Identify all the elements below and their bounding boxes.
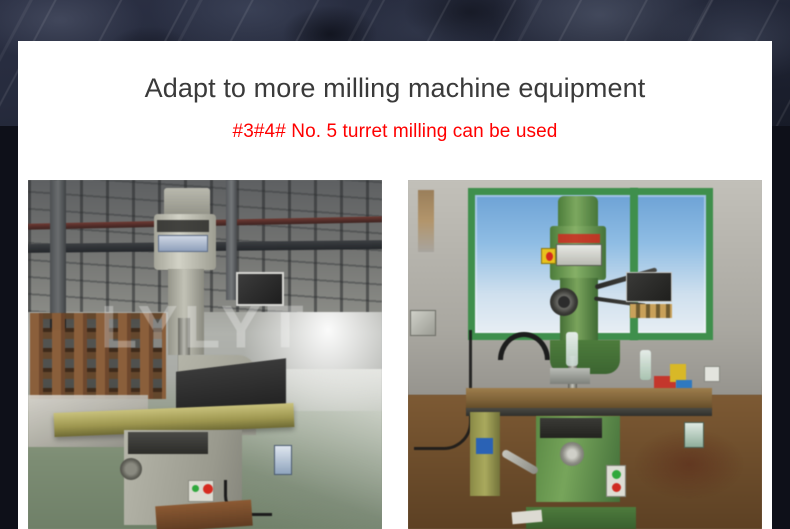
photo-2-water-bottle [566, 332, 578, 366]
photo-2-machine-saddle [540, 418, 602, 438]
photo-2-knee-handwheel [560, 442, 584, 466]
photo-2-machine-table [466, 388, 712, 410]
photo-1-machine-label [158, 235, 208, 252]
photo-2-wall-stain [418, 190, 434, 252]
photo-1-control-pendant [274, 445, 292, 475]
photo-1-handwheel [120, 458, 142, 480]
photo-2-button-box [606, 465, 626, 497]
photo-1-start-button [192, 485, 199, 492]
page-title: Adapt to more milling machine equipment [18, 72, 772, 106]
photo-2-tool-rack [626, 272, 672, 302]
photo-2-machine-brand-plate [558, 234, 600, 243]
product-image-gallery: LYLYT [28, 180, 762, 529]
photo-2-control-pendant [684, 422, 704, 448]
photo-2-machine-base [526, 507, 636, 529]
photo-2-machine-motor [558, 196, 598, 228]
content-card: Adapt to more milling machine equipment … [18, 41, 772, 529]
photo-1-machine-saddle [128, 432, 208, 454]
photo-2-oil-drum [470, 412, 500, 496]
photo-2-machine-table-edge [466, 408, 712, 416]
photo-2-machine-label [556, 244, 602, 266]
photo-1-wooden-crates [30, 313, 166, 399]
product-image-1[interactable]: LYLYT [28, 180, 382, 529]
product-image-2[interactable] [408, 180, 762, 529]
page-subtitle: #3#4# No. 5 turret milling can be used [18, 120, 772, 145]
photo-2-wall-wires [414, 330, 472, 450]
photo-2-wall-socket [704, 366, 720, 382]
headings-block: Adapt to more milling machine equipment … [18, 41, 772, 144]
photo-1-wall-panel [236, 272, 284, 306]
photo-1-machine-brand-plate [157, 220, 209, 232]
photo-2-water-bottle-secondary [640, 350, 651, 380]
photo-2-emergency-stop [541, 248, 556, 264]
photo-2-stop-button [612, 483, 621, 492]
photo-2-machine-handwheel [550, 288, 578, 316]
photo-1-column-left [50, 180, 66, 330]
photo-2-start-button [612, 470, 621, 479]
photo-2-machine-vise [550, 368, 590, 384]
photo-2-blue-bucket [476, 438, 493, 454]
photo-1-stop-button [203, 484, 213, 494]
photo-2-collet-holders [630, 304, 672, 318]
